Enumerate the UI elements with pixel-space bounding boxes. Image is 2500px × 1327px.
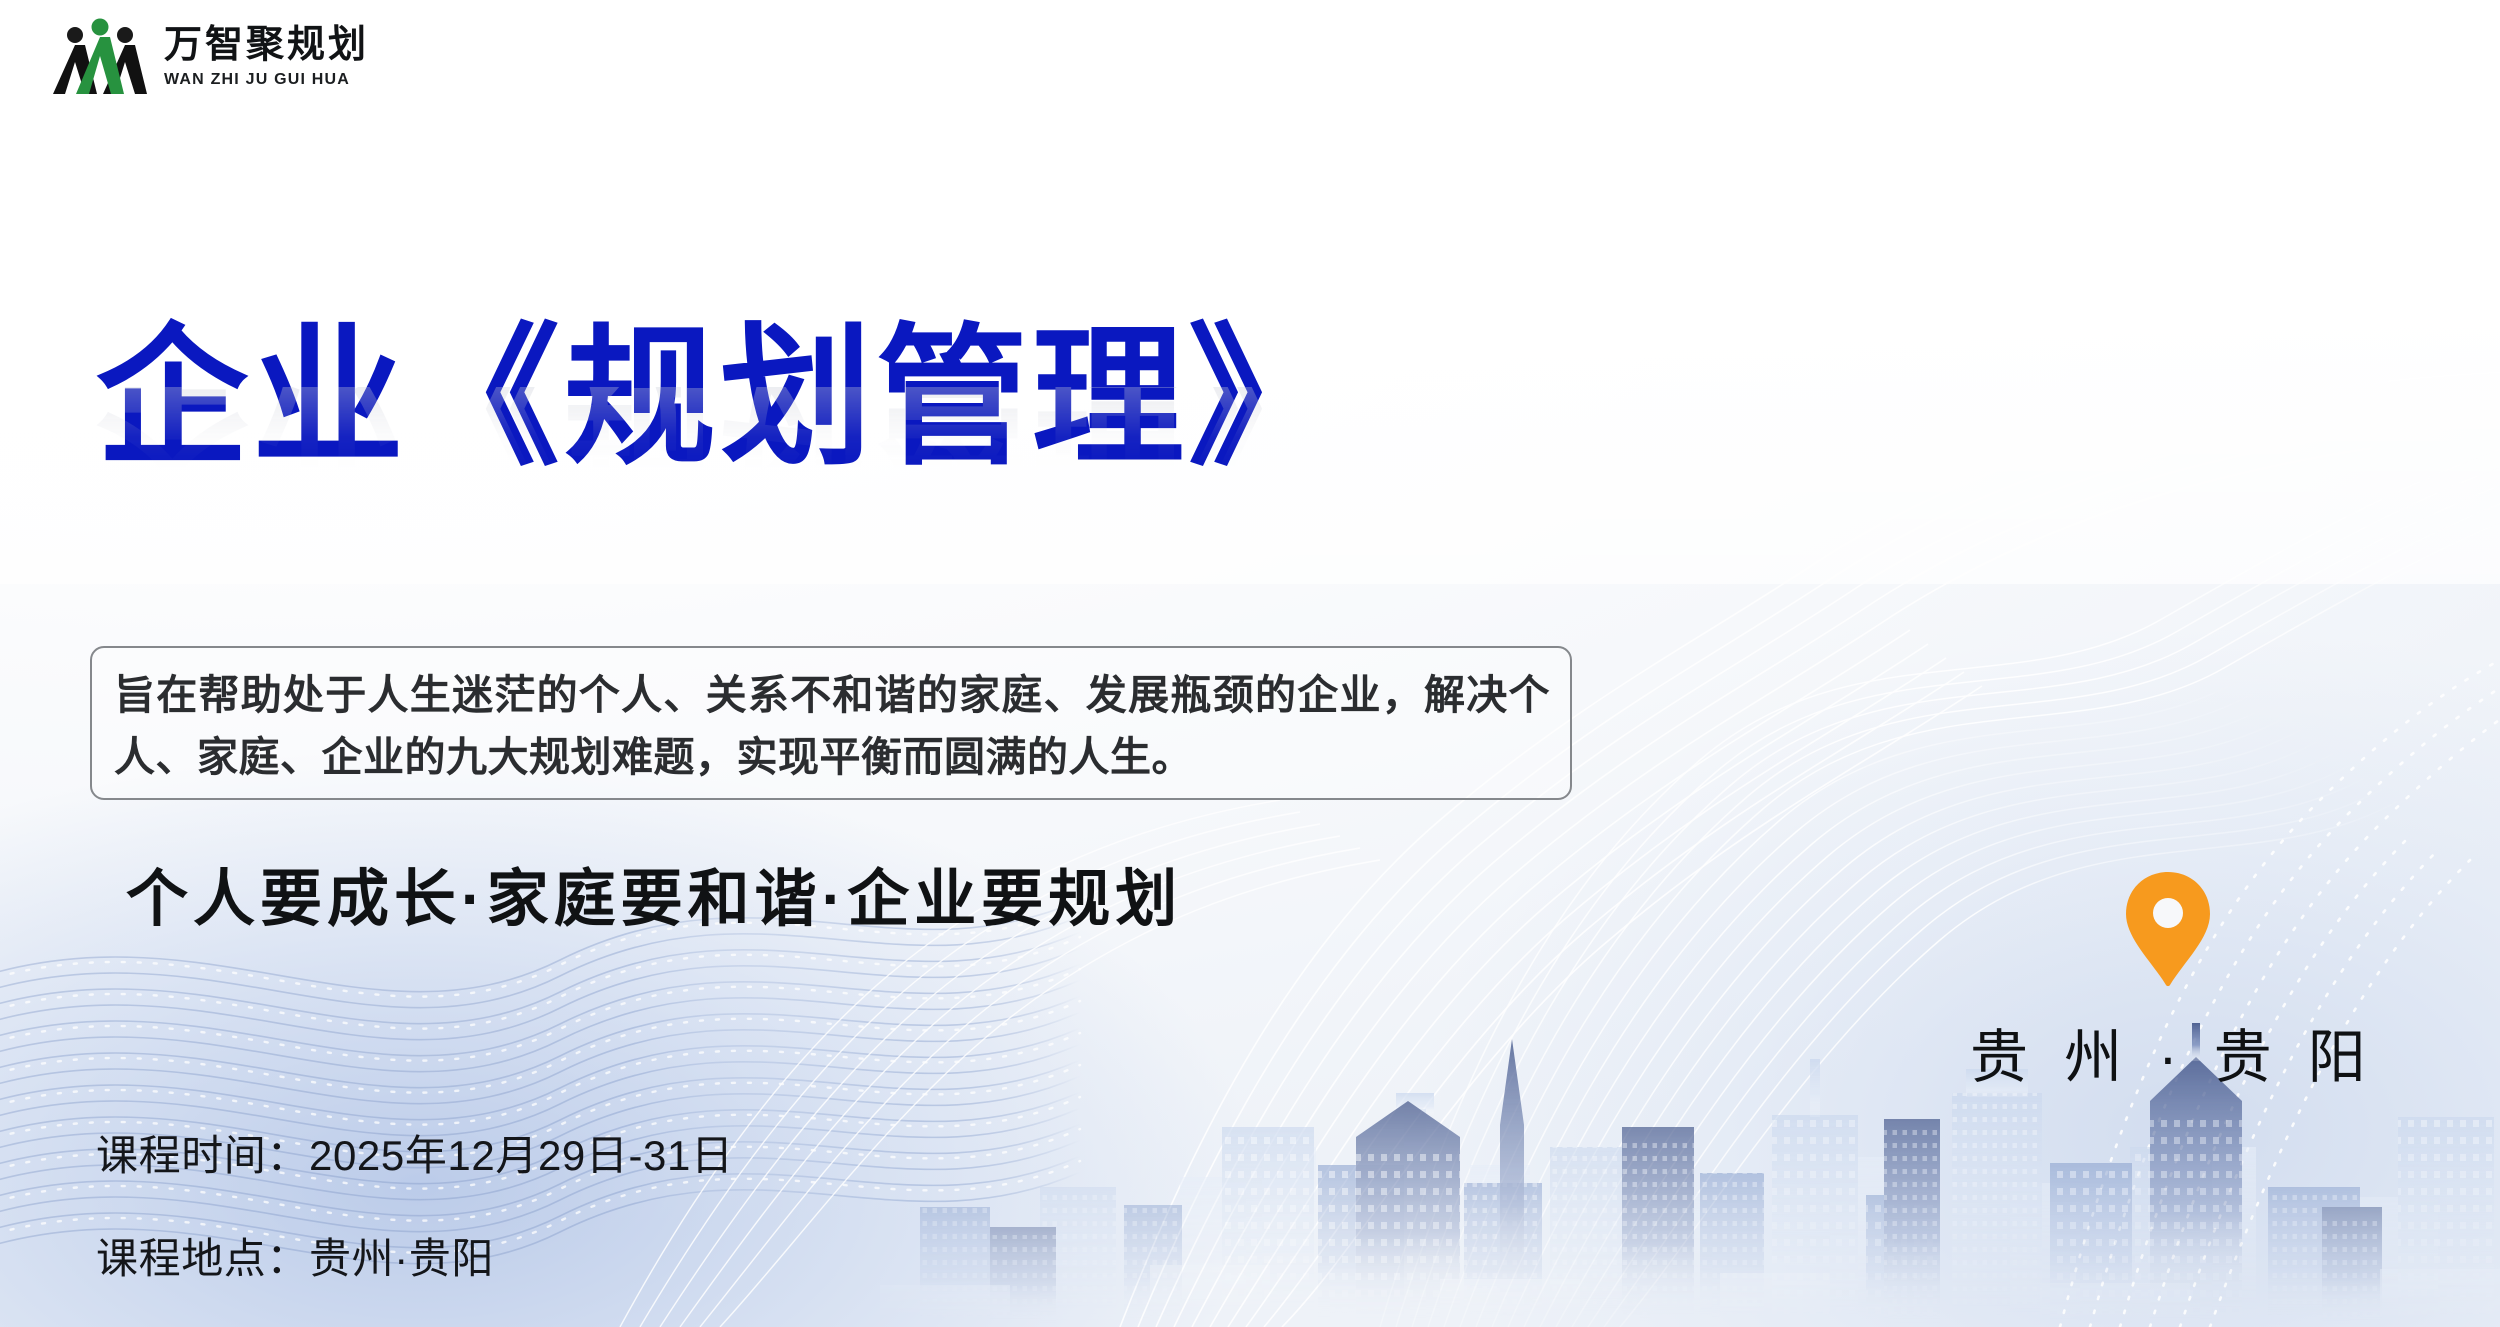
brand-name-pinyin: WAN ZHI JU GUI HUA <box>164 70 369 91</box>
three-people-m-logo-icon <box>52 18 148 96</box>
brand-logo: 万智聚规划 WAN ZHI JU GUI HUA <box>52 18 369 96</box>
course-place: 课程地点：贵州·贵阳 <box>96 1225 734 1286</box>
brand-name-cn: 万智聚规划 <box>164 25 369 66</box>
tagline: 个人要成长·家庭要和谐·企业要规划 <box>126 848 1182 938</box>
map-pin-icon <box>2122 870 2214 988</box>
brand-logo-text: 万智聚规划 WAN ZHI JU GUI HUA <box>164 23 369 91</box>
location-block: 贵 州 · 贵 阳 <box>1960 870 2376 1094</box>
course-time: 课程时间：2025年12月29日-31日 <box>96 1122 734 1183</box>
course-info: 课程时间：2025年12月29日-31日 课程地点：贵州·贵阳 <box>96 1122 734 1286</box>
description-text: 旨在帮助处于人生迷茫的个人、关系不和谐的家庭、发展瓶颈的企业，解决个人、家庭、企… <box>114 664 1550 789</box>
hero-title-block: 企业《规划管理》 企业《规划管理》 <box>96 318 1696 579</box>
title-reflection: 企业《规划管理》 <box>96 387 1696 483</box>
description-box: 旨在帮助处于人生迷茫的个人、关系不和谐的家庭、发展瓶颈的企业，解决个人、家庭、企… <box>90 646 1572 800</box>
poster-canvas: 万智聚规划 WAN ZHI JU GUI HUA 企业《规划管理》 企业《规划管… <box>0 0 2500 1327</box>
city-label: 贵 州 · 贵 阳 <box>1960 1010 2376 1094</box>
